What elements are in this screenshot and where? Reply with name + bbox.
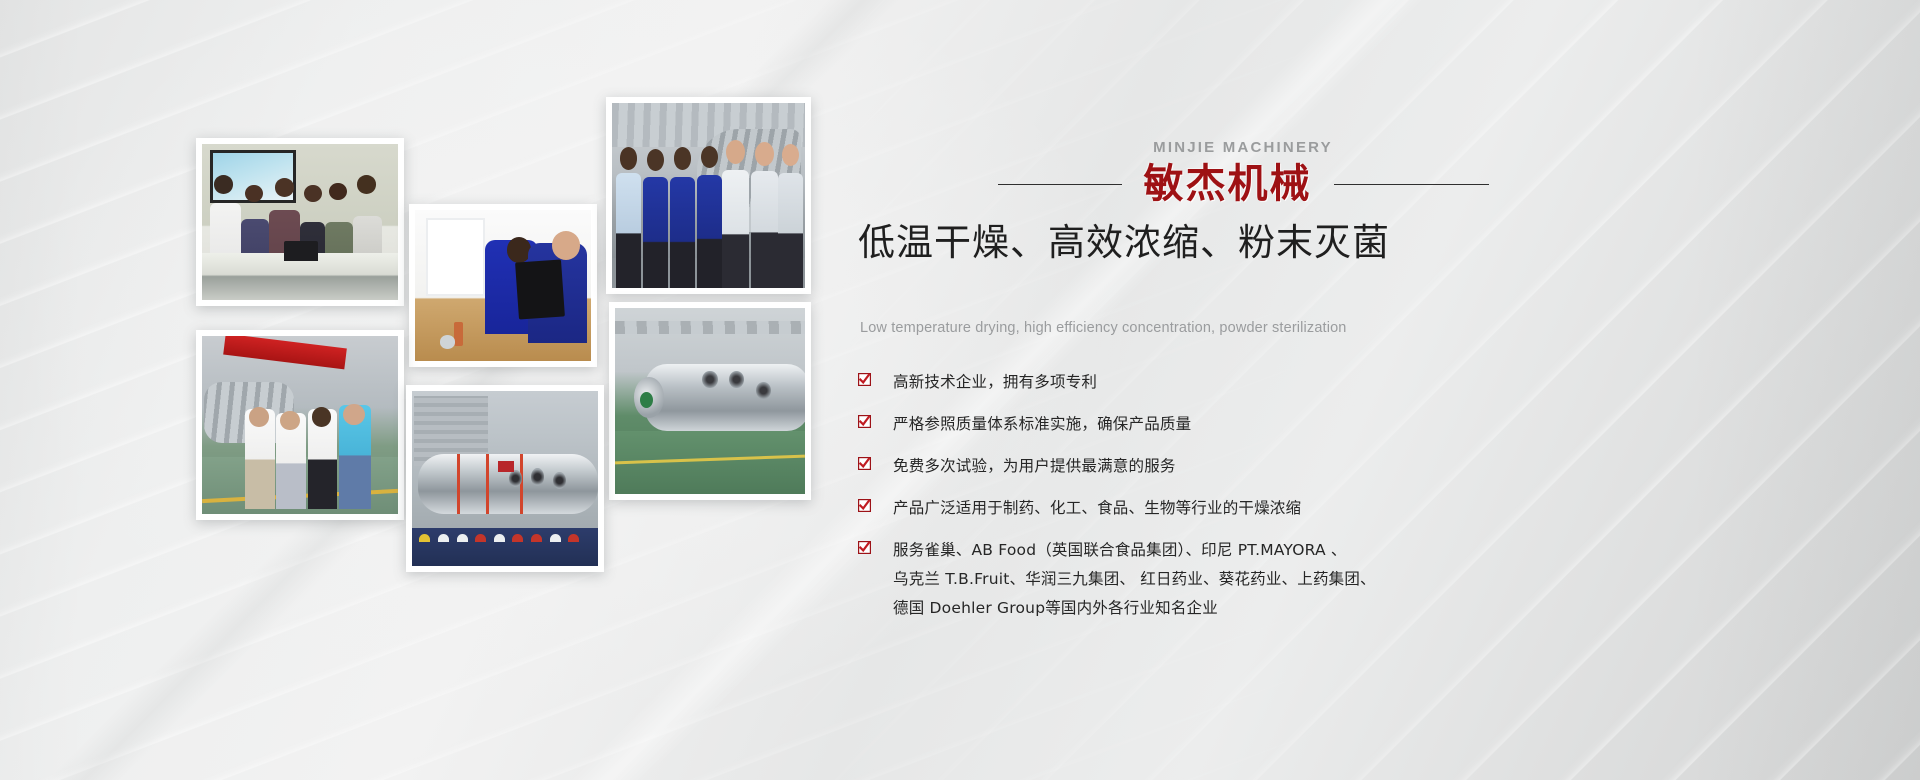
list-item: 高新技术企业，拥有多项专利 (858, 368, 1868, 397)
list-item-line: 德国 Doehler Group等国内外各行业知名企业 (893, 594, 1868, 623)
brand-chinese-name: 敏杰机械 (1144, 164, 1312, 204)
list-item-label-multiline: 服务雀巢、AB Food（英国联合食品集团）、印尼 PT.MAYORA 、 乌克… (893, 536, 1868, 623)
check-box-icon (858, 457, 871, 470)
photo-large-tank-crew (406, 385, 604, 572)
list-item: 产品广泛适用于制药、化工、食品、生物等行业的干燥浓缩 (858, 494, 1868, 523)
list-item-label: 产品广泛适用于制药、化工、食品、生物等行业的干燥浓缩 (893, 499, 1301, 517)
banner-headline: 低温干燥、高效浓缩、粉末灭菌 (858, 222, 1858, 265)
company-banner: MINJIE MACHINERY 敏杰机械 低温干燥、高效浓缩、粉末灭菌 Low… (0, 0, 1920, 780)
ceiling-beam-decor (615, 321, 805, 334)
brand-english-name: MINJIE MACHINERY (848, 140, 1638, 155)
brand-rule-left-decor (998, 184, 1122, 185)
banner-text-panel: MINJIE MACHINERY 敏杰机械 低温干燥、高效浓缩、粉末灭菌 Low… (848, 0, 1920, 780)
list-item-label: 免费多次试验，为用户提供最满意的服务 (893, 457, 1176, 475)
check-box-icon (858, 541, 871, 554)
check-box-icon (858, 499, 871, 512)
red-slogan-banner-decor (223, 336, 346, 370)
list-item: 免费多次试验，为用户提供最满意的服务 (858, 452, 1868, 481)
photo-lab-technicians-image (415, 210, 591, 361)
check-box-icon (858, 373, 871, 386)
brand-rule-right-decor (1334, 184, 1489, 185)
list-item: 服务雀巢、AB Food（英国联合食品集团）、印尼 PT.MAYORA 、 乌克… (858, 536, 1868, 623)
photo-factory-hall-delegation (606, 97, 811, 294)
list-item-label: 严格参照质量体系标准实施，确保产品质量 (893, 415, 1191, 433)
brand-block: MINJIE MACHINERY 敏杰机械 (848, 140, 1638, 204)
feature-bullet-list: 高新技术企业，拥有多项专利 严格参照质量体系标准实施，确保产品质量 (858, 368, 1868, 623)
photo-stainless-vessel-plant-image (615, 308, 805, 494)
photo-large-tank-crew-image (412, 391, 598, 566)
photo-meeting-room-group (196, 138, 404, 306)
photo-collage (0, 0, 860, 780)
laptop-decor (284, 241, 317, 261)
list-item-line: 服务雀巢、AB Food（英国联合食品集团）、印尼 PT.MAYORA 、 (893, 536, 1868, 565)
list-item-label: 高新技术企业，拥有多项专利 (893, 373, 1097, 391)
photo-meeting-room-group-image (202, 144, 398, 300)
stainless-vessel-decor (645, 364, 805, 431)
list-item-line: 乌克兰 T.B.Fruit、华润三九集团、 红日药业、葵花药业、上药集团、 (893, 565, 1868, 594)
banner-subheadline: Low temperature drying, high efficiency … (860, 320, 1860, 336)
clipboard-decor (515, 260, 565, 320)
photo-workshop-team (196, 330, 404, 520)
photo-factory-hall-delegation-image (612, 103, 805, 288)
lab-window-decor (426, 218, 486, 297)
photo-lab-technicians (409, 204, 597, 367)
photo-workshop-team-image (202, 336, 398, 514)
check-box-icon (858, 415, 871, 428)
photo-stainless-vessel-plant (609, 302, 811, 500)
brand-name-row: 敏杰机械 (848, 164, 1638, 204)
list-item: 严格参照质量体系标准实施，确保产品质量 (858, 410, 1868, 439)
worker-crew-decor (412, 528, 598, 567)
